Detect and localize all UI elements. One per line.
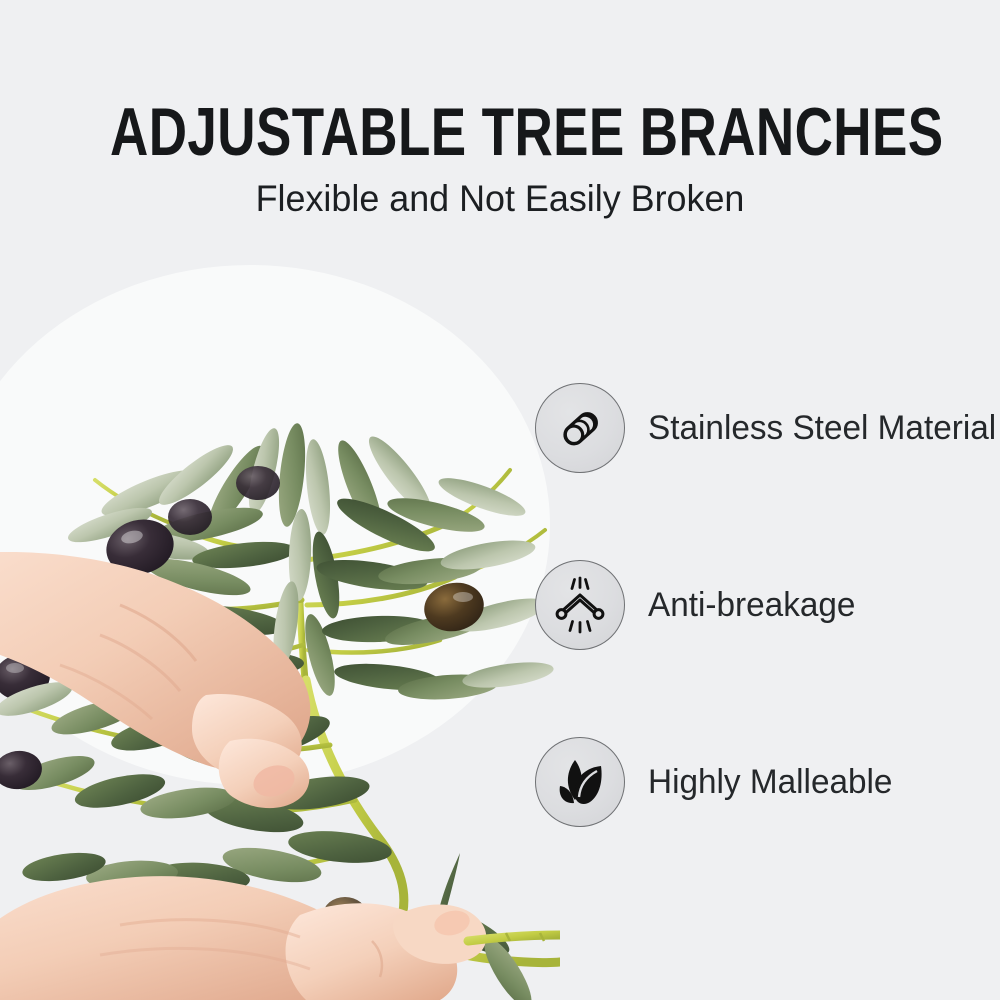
headline-block: ADJUSTABLE TREE BRANCHES Flexible and No… xyxy=(0,98,1000,220)
feature-badge-1 xyxy=(535,383,625,473)
feature-item-anti-breakage: Anti-breakage xyxy=(535,560,1000,650)
page-subtitle: Flexible and Not Easily Broken xyxy=(15,178,985,220)
steel-tube-icon xyxy=(552,400,608,456)
product-feature-infographic: ADJUSTABLE TREE BRANCHES Flexible and No… xyxy=(0,0,1000,1000)
feature-badge-3 xyxy=(535,737,625,827)
feature-label-3: Highly Malleable xyxy=(648,763,892,801)
product-photo xyxy=(0,225,560,1000)
page-title: ADJUSTABLE TREE BRANCHES xyxy=(110,98,890,166)
bending-rod-icon xyxy=(551,576,609,634)
feature-label-2: Anti-breakage xyxy=(648,586,855,624)
leaves-icon xyxy=(554,756,606,808)
feature-label-1: Stainless Steel Material xyxy=(648,409,996,447)
feature-list: Stainless Steel Material xyxy=(535,383,1000,827)
feature-item-stainless-steel: Stainless Steel Material xyxy=(535,383,1000,473)
feature-badge-2 xyxy=(535,560,625,650)
hands-bending-branch-illustration xyxy=(0,225,560,1000)
feature-item-highly-malleable: Highly Malleable xyxy=(535,737,1000,827)
